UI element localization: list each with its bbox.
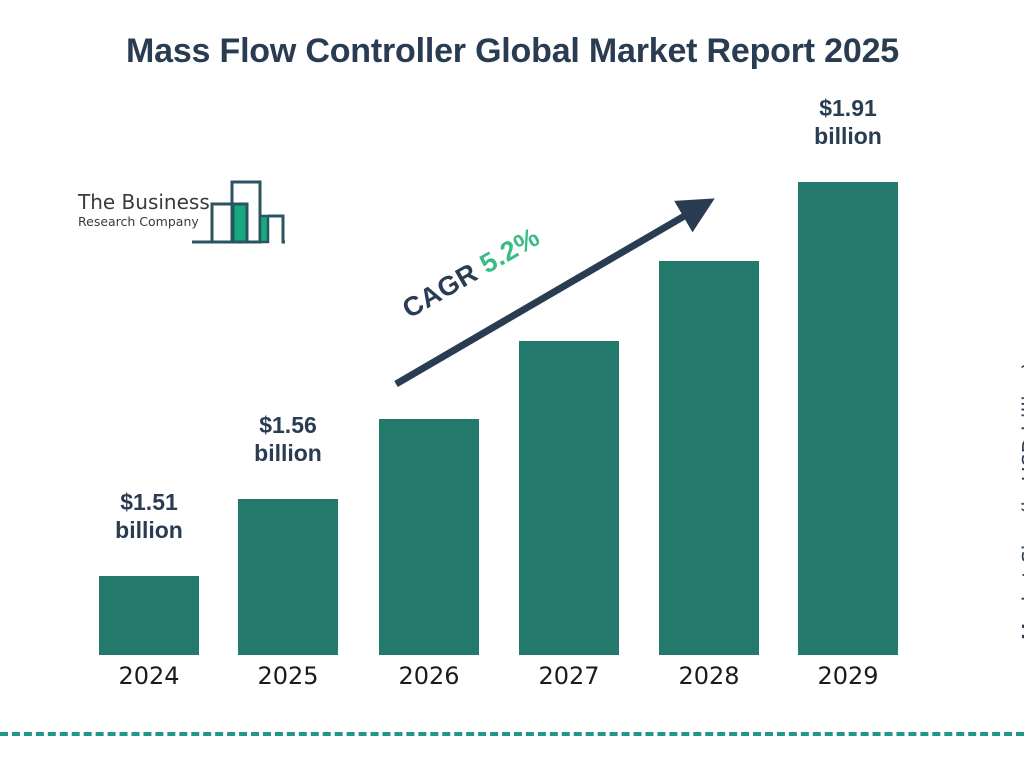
bar-value-amount-2025: $1.56 xyxy=(228,411,348,439)
cagr-label: CAGR xyxy=(397,257,483,324)
chart-canvas: Mass Flow Controller Global Market Repor… xyxy=(0,0,1024,768)
bar-value-amount-2029: $1.91 xyxy=(788,94,908,122)
bar-2025 xyxy=(238,499,338,655)
x-axis-tick-2028: 2028 xyxy=(649,662,769,690)
bar-value-unit-2024: billion xyxy=(89,516,209,544)
x-axis-tick-2026: 2026 xyxy=(369,662,489,690)
bar-value-amount-2024: $1.51 xyxy=(89,488,209,516)
bar-value-label-2029: $1.91 billion xyxy=(788,94,908,150)
x-axis-tick-2025: 2025 xyxy=(228,662,348,690)
bar-value-label-2025: $1.56 billion xyxy=(228,411,348,467)
bar-2027 xyxy=(519,341,619,655)
footer-divider xyxy=(0,732,1024,736)
y-axis-label: Market Size (in USD billion) xyxy=(1018,336,1024,666)
bar-2028 xyxy=(659,261,759,655)
bar-value-label-2024: $1.51 billion xyxy=(89,488,209,544)
bar-2026 xyxy=(379,419,479,655)
cagr-annotation: CAGR 5.2% xyxy=(397,222,545,325)
x-axis-tick-2027: 2027 xyxy=(509,662,629,690)
bar-2024 xyxy=(99,576,199,655)
bar-value-unit-2029: billion xyxy=(788,122,908,150)
bar-chart-plot: $1.51 billion $1.56 billion $1.91 billio… xyxy=(0,0,1024,768)
cagr-value: 5.2% xyxy=(475,222,545,280)
x-axis-tick-2029: 2029 xyxy=(788,662,908,690)
bar-2029 xyxy=(798,182,898,655)
bar-value-unit-2025: billion xyxy=(228,439,348,467)
x-axis-tick-2024: 2024 xyxy=(89,662,209,690)
